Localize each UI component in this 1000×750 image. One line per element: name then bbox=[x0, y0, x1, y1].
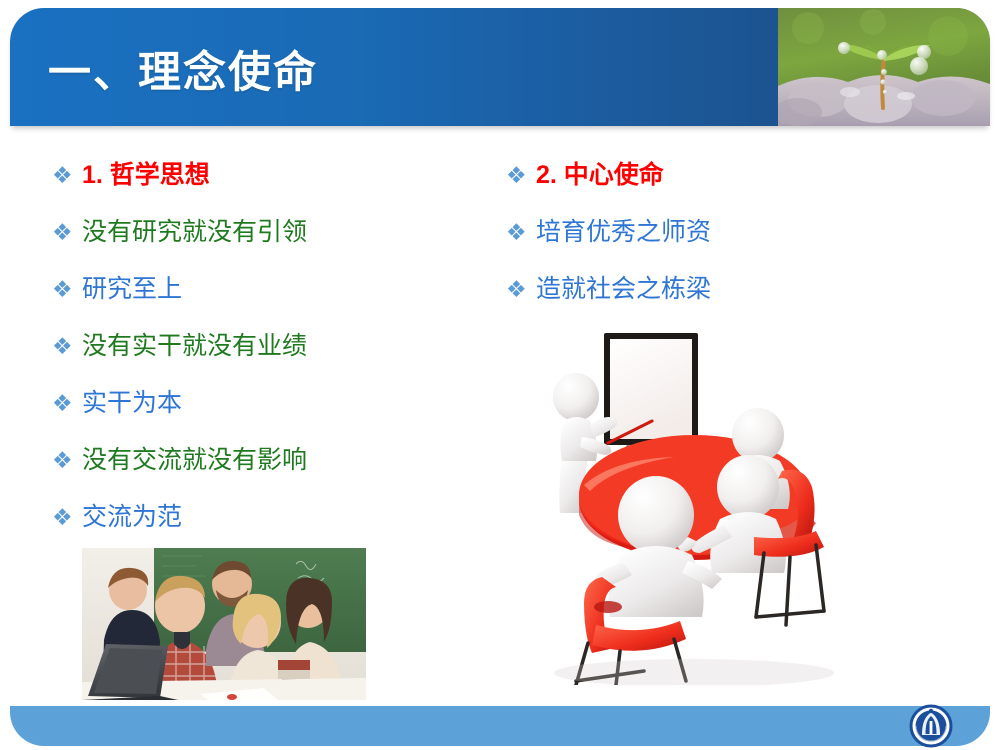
floret-bullet-icon: ❖ bbox=[52, 443, 82, 477]
bullet-label: 研究至上 bbox=[82, 272, 182, 306]
list-item: ❖ 2. 中心使命 bbox=[506, 158, 926, 215]
list-item: ❖ 培育优秀之师资 bbox=[506, 215, 926, 272]
list-item: ❖ 造就社会之栋梁 bbox=[506, 272, 926, 329]
floret-bullet-icon: ❖ bbox=[506, 272, 536, 306]
floret-bullet-icon: ❖ bbox=[506, 158, 536, 192]
floret-bullet-icon: ❖ bbox=[506, 215, 536, 249]
floret-bullet-icon: ❖ bbox=[52, 386, 82, 420]
list-item: ❖ 1. 哲学思想 bbox=[52, 158, 472, 215]
bullet-label: 交流为范 bbox=[82, 500, 182, 534]
floret-bullet-icon: ❖ bbox=[52, 272, 82, 306]
seedling-sprout-photo bbox=[778, 8, 990, 126]
list-item: ❖ 没有实干就没有业绩 bbox=[52, 329, 472, 386]
bullet-label: 没有研究就没有引领 bbox=[82, 215, 307, 249]
list-item: ❖ 实干为本 bbox=[52, 386, 472, 443]
university-emblem-logo bbox=[908, 703, 954, 749]
bullet-label: 培育优秀之师资 bbox=[536, 215, 711, 249]
bullet-label: 没有实干就没有业绩 bbox=[82, 329, 307, 363]
presentation-slide: 一、理念使命 bbox=[0, 0, 1000, 750]
floret-bullet-icon: ❖ bbox=[52, 500, 82, 534]
page-title: 一、理念使命 bbox=[48, 38, 318, 100]
students-with-laptop-photo bbox=[82, 548, 366, 700]
bullet-label: 没有交流就没有影响 bbox=[82, 443, 307, 477]
floret-bullet-icon: ❖ bbox=[52, 329, 82, 363]
list-item: ❖ 没有交流就没有影响 bbox=[52, 443, 472, 500]
floret-bullet-icon: ❖ bbox=[52, 215, 82, 249]
3d-figures-meeting-illustration bbox=[524, 325, 874, 685]
bullet-label: 1. 哲学思想 bbox=[82, 158, 210, 192]
bullet-label: 实干为本 bbox=[82, 386, 182, 420]
left-bullet-column: ❖ 1. 哲学思想 ❖ 没有研究就没有引领 ❖ 研究至上 ❖ 没有实干就没有业绩… bbox=[52, 158, 472, 557]
bullet-label: 2. 中心使命 bbox=[536, 158, 664, 192]
footer-band bbox=[10, 706, 990, 746]
right-bullet-column: ❖ 2. 中心使命 ❖ 培育优秀之师资 ❖ 造就社会之栋梁 bbox=[506, 158, 926, 329]
bullet-label: 造就社会之栋梁 bbox=[536, 272, 711, 306]
list-item: ❖ 没有研究就没有引领 bbox=[52, 215, 472, 272]
floret-bullet-icon: ❖ bbox=[52, 158, 82, 192]
list-item: ❖ 研究至上 bbox=[52, 272, 472, 329]
